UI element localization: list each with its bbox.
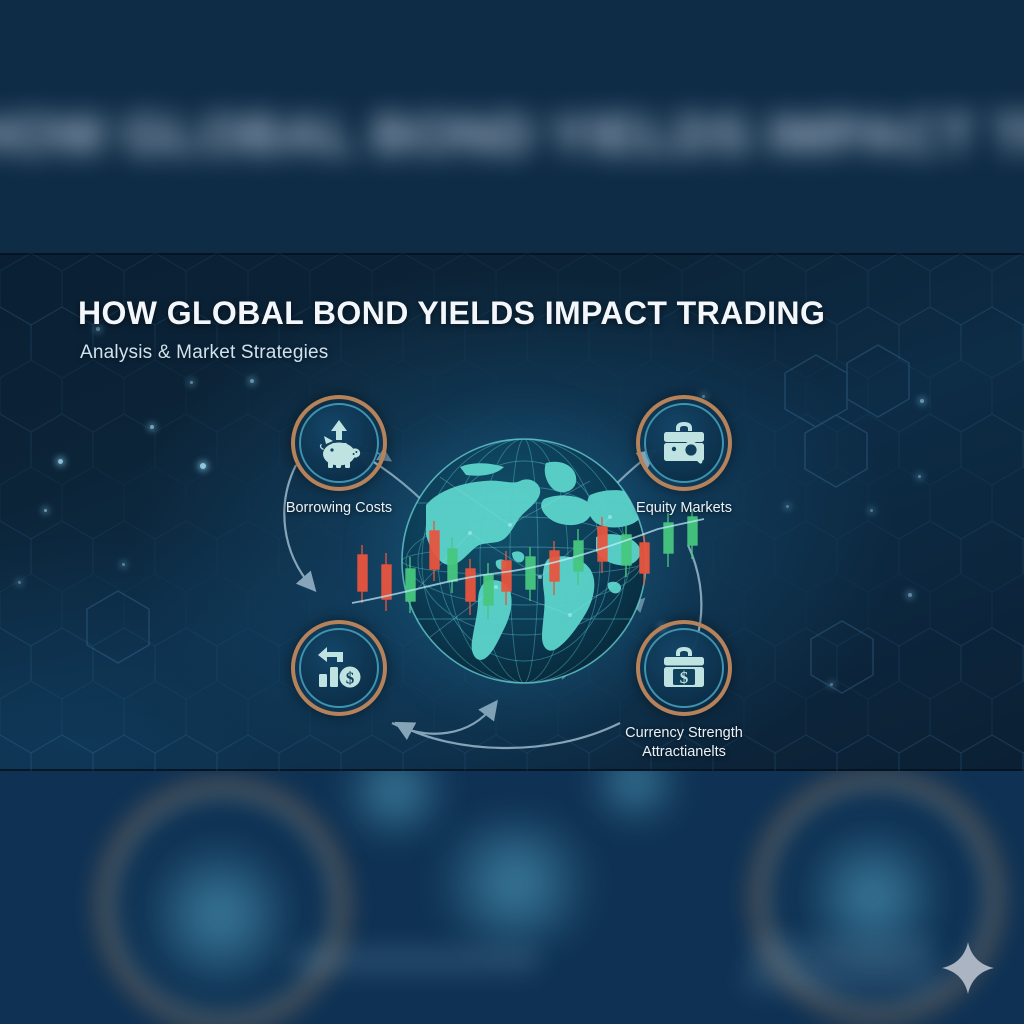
node-label-equity-markets: Equity Markets xyxy=(569,499,799,518)
briefcase-magnifier-icon xyxy=(636,395,732,491)
node-label-line1: Currency Strength xyxy=(625,725,743,741)
node-label-currency-strength: Currency Strength Attractianelts xyxy=(569,724,799,762)
blurred-bar-left xyxy=(290,946,540,974)
particle xyxy=(190,381,193,384)
node-bar-chart-dollar[interactable]: $ xyxy=(291,620,387,716)
blurred-glow-center xyxy=(420,818,610,948)
particle xyxy=(44,509,47,512)
particle xyxy=(830,683,833,686)
particle xyxy=(918,475,921,478)
poster-canvas: HOW GLOBAL BOND YIELDS IMPACT TRADING xyxy=(0,0,1024,1024)
node-currency-strength[interactable]: $ Currency Strength Attractianelts xyxy=(636,620,732,716)
globe-graphic xyxy=(400,437,648,685)
particle xyxy=(58,459,63,464)
page-title: HOW GLOBAL BOND YIELDS IMPACT TRADING xyxy=(78,295,825,332)
particle xyxy=(18,581,21,584)
blurred-backdrop-bottom xyxy=(0,770,1024,1024)
page-subtitle: Analysis & Market Strategies xyxy=(80,342,328,364)
briefcase-dollar-icon: $ xyxy=(636,620,732,716)
node-label-line1: Equity Markets xyxy=(636,500,732,516)
particle xyxy=(908,593,912,597)
particle xyxy=(250,379,254,383)
particle xyxy=(122,563,125,566)
blurred-bar-right-2 xyxy=(742,966,938,992)
node-label-borrowing-costs: Borrowing Costs xyxy=(224,499,454,518)
node-equity-markets[interactable]: Equity Markets xyxy=(636,395,732,491)
candlestick-chart-overlay xyxy=(348,507,708,637)
blurred-bar-right-1 xyxy=(748,938,938,968)
particle xyxy=(200,463,206,469)
bar-chart-arrow-dollar-icon: $ xyxy=(291,620,387,716)
particle xyxy=(150,425,154,429)
particle xyxy=(920,399,924,403)
svg-text:$: $ xyxy=(680,668,689,687)
node-borrowing-costs[interactable]: Borrowing Costs xyxy=(291,395,387,491)
blurred-glow-left xyxy=(150,825,290,1005)
particle xyxy=(870,509,873,512)
node-label-line1: Borrowing Costs xyxy=(286,500,392,516)
sparkle-star-icon xyxy=(940,940,996,996)
blurred-backdrop-title: HOW GLOBAL BOND YIELDS IMPACT TRADING xyxy=(0,104,802,190)
svg-text:$: $ xyxy=(346,669,355,688)
node-label-line2: Attractianelts xyxy=(569,743,799,762)
piggy-bank-up-arrow-icon xyxy=(291,395,387,491)
